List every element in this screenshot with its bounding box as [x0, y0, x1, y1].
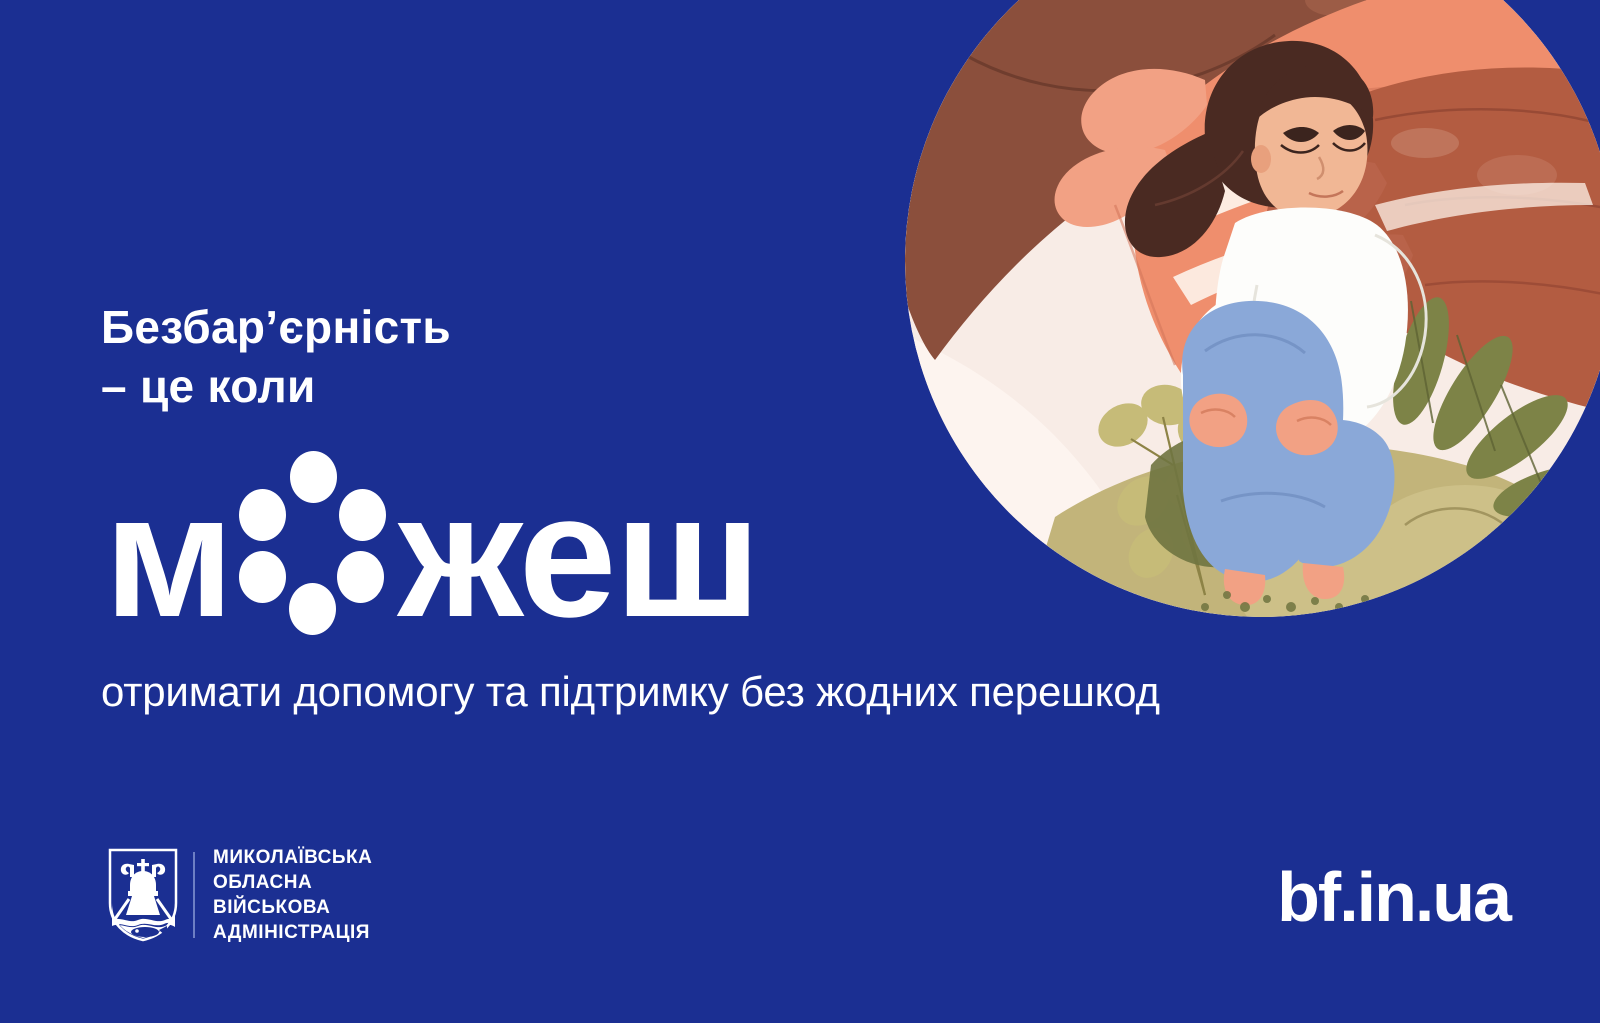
logo-dot — [239, 489, 286, 541]
logo-dot — [289, 583, 336, 635]
subtitle: отримати допомогу та підтримку без жодни… — [101, 668, 1160, 716]
poster-root: Безбар’єрність – це коли м жеш отримати … — [0, 0, 1600, 1023]
ova-name: МИКОЛАЇВСЬКА ОБЛАСНА ВІЙСЬКОВА АДМІНІСТР… — [213, 845, 372, 945]
logo-suffix-zhesh: жеш — [398, 484, 759, 628]
illustration-artwork — [905, 0, 1600, 617]
logo-dot — [339, 489, 386, 541]
mykolaiv-coat-of-arms-icon — [107, 847, 179, 943]
ova-line: АДМІНІСТРАЦІЯ — [213, 920, 372, 945]
site-url-logo[interactable]: bf.in.ua — [1277, 862, 1510, 932]
illustration-circle — [905, 0, 1600, 617]
logo-dot — [239, 551, 286, 603]
logo-dot — [290, 451, 337, 503]
headline: Безбар’єрність – це коли — [101, 298, 451, 416]
mozhesh-logo: м жеш — [104, 443, 759, 628]
ova-line: ОБЛАСНА — [213, 870, 372, 895]
ova-divider — [193, 852, 195, 938]
logo-prefix-m: м — [104, 484, 232, 628]
ova-line: МИКОЛАЇВСЬКА — [213, 845, 372, 870]
ova-logo-block: МИКОЛАЇВСЬКА ОБЛАСНА ВІЙСЬКОВА АДМІНІСТР… — [107, 845, 372, 945]
ova-line: ВІЙСЬКОВА — [213, 895, 372, 920]
logo-dot-ring-icon — [234, 443, 394, 628]
logo-dot — [337, 551, 384, 603]
